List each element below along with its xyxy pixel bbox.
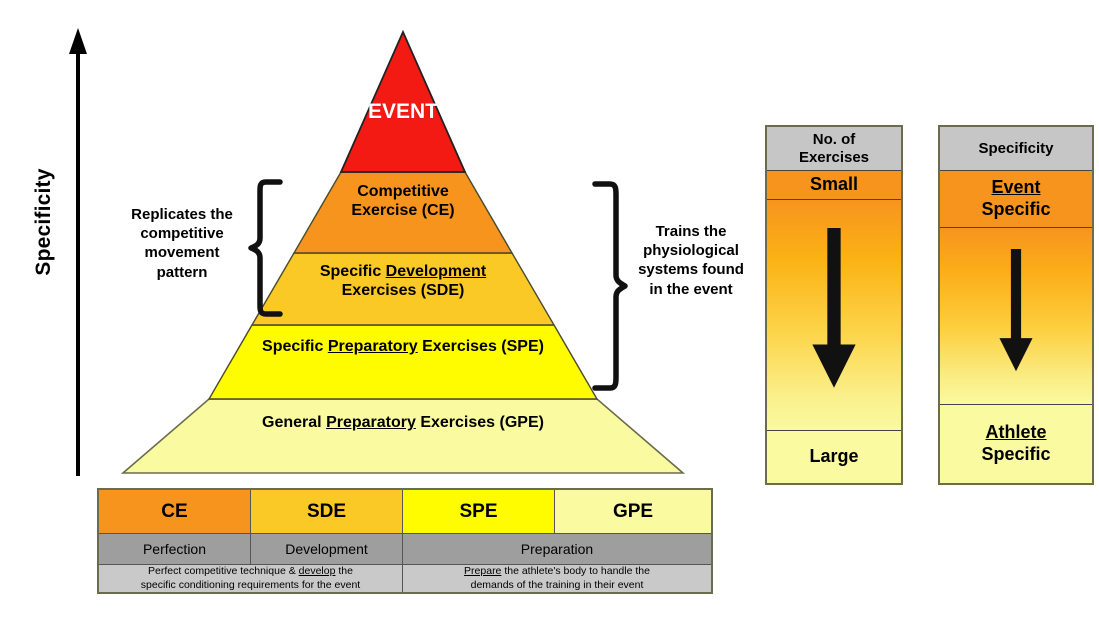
left-curly-brace-icon xyxy=(248,178,284,318)
table-description-cell-specific: Perfect competitive technique & develop … xyxy=(99,565,403,592)
spe-pre: Specific xyxy=(262,338,328,355)
left-annotation-text: Replicates the competitive movement patt… xyxy=(118,205,246,282)
col-specificity-bottom-line2: Specific xyxy=(981,444,1050,464)
down-arrow-icon xyxy=(997,249,1035,383)
table-header-cell-spe: SPE xyxy=(403,490,555,534)
col-exercises-bottom-label: Large xyxy=(767,431,901,483)
pyramid-label-spe: Specific Preparatory Exercises (SPE) xyxy=(213,338,593,357)
col-exercises-gradient xyxy=(767,200,901,431)
desc1-underlined: develop xyxy=(299,565,336,577)
col-exercises-header-line2: Exercises xyxy=(799,149,869,166)
column-specificity: Specificity Event Specific Athlete Speci… xyxy=(938,125,1094,485)
exercise-classification-table: CE SDE SPE GPE Perfection Development Pr… xyxy=(97,488,713,594)
col-exercises-header-line1: No. of xyxy=(813,131,856,148)
gpe-pre: General xyxy=(262,414,326,431)
sde-line-2: Exercises (SDE) xyxy=(342,282,465,299)
right-curly-brace-icon xyxy=(590,180,628,392)
desc1-pre: Perfect competitive technique & xyxy=(148,565,299,577)
col-exercises-header: No. of Exercises xyxy=(767,127,901,171)
table-phase-cell-perfection: Perfection xyxy=(99,534,251,565)
table-phase-row: Perfection Development Preparation xyxy=(99,534,711,565)
col-specificity-gradient xyxy=(940,228,1092,405)
column-number-of-exercises: No. of Exercises Small Large xyxy=(765,125,903,485)
down-arrow-icon xyxy=(809,228,859,403)
table-phase-cell-preparation: Preparation xyxy=(403,534,711,565)
col-specificity-top-line2: Specific xyxy=(981,199,1050,219)
table-header-cell-gpe: GPE xyxy=(555,490,711,534)
col-specificity-bottom-underlined: Athlete xyxy=(985,422,1046,442)
diagram-canvas: Specificity EVENT Competitive Exercise (… xyxy=(0,0,1099,636)
desc1-line2: specific conditioning requirements for t… xyxy=(141,579,360,591)
right-annotation-text: Trains the physiological systems found i… xyxy=(630,222,752,299)
pyramid-label-ce: Competitive Exercise (CE) xyxy=(283,183,523,221)
ce-line-1: Competitive xyxy=(357,183,449,200)
table-description-row: Perfect competitive technique & develop … xyxy=(99,565,711,592)
pyramid-label-gpe: General Preparatory Exercises (GPE) xyxy=(193,414,613,433)
pyramid-level-spe xyxy=(209,325,597,399)
sde-line-1-pre: Specific xyxy=(320,263,386,280)
table-header-row: CE SDE SPE GPE xyxy=(99,490,711,534)
pyramid-level-gpe xyxy=(123,399,683,473)
table-phase-cell-development: Development xyxy=(251,534,403,565)
col-specificity-bottom-label: Athlete Specific xyxy=(940,405,1092,483)
col-specificity-top-underlined: Event xyxy=(991,177,1040,197)
desc2-underlined: Prepare xyxy=(464,565,501,577)
table-header-cell-ce: CE xyxy=(99,490,251,534)
pyramid-label-event: EVENT xyxy=(313,100,493,125)
sde-line-1-underlined: Development xyxy=(386,263,486,280)
pyramid-label-sde: Specific Development Exercises (SDE) xyxy=(253,263,553,301)
spe-underlined: Preparatory xyxy=(328,338,418,355)
desc1-post: the xyxy=(335,565,353,577)
col-exercises-top-label: Small xyxy=(767,171,901,200)
desc2-post: the athlete's body to handle the xyxy=(501,565,650,577)
ce-line-2: Exercise (CE) xyxy=(351,202,454,219)
gpe-post: Exercises (GPE) xyxy=(416,414,544,431)
gpe-underlined: Preparatory xyxy=(326,414,416,431)
col-specificity-header: Specificity xyxy=(940,127,1092,171)
table-header-cell-sde: SDE xyxy=(251,490,403,534)
table-description-cell-preparation: Prepare the athlete's body to handle the… xyxy=(403,565,711,592)
desc2-line2: demands of the training in their event xyxy=(471,579,644,591)
col-specificity-top-label: Event Specific xyxy=(940,171,1092,228)
spe-post: Exercises (SPE) xyxy=(418,338,544,355)
